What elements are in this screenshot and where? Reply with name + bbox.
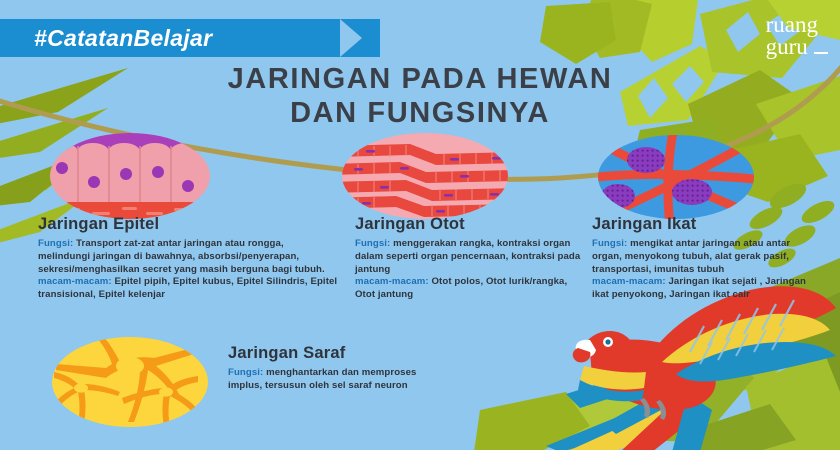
page-title-line-2: DAN FUNGSINYA bbox=[0, 96, 840, 130]
banner-notch bbox=[340, 19, 362, 57]
card-heading-epitel: Jaringan Epitel bbox=[38, 215, 338, 234]
nerve-tissue-illustration bbox=[50, 336, 210, 433]
card-heading-saraf: Jaringan Saraf bbox=[228, 344, 458, 363]
card-jaringan-ikat: Jaringan Ikat Fungsi: mengikat antar jar… bbox=[592, 215, 827, 302]
fungsi-label-otot: Fungsi: bbox=[355, 238, 390, 249]
ruangguru-logo: ruang guru bbox=[766, 14, 818, 58]
card-body-epitel: Fungsi: Transport zat-zat antar jaringan… bbox=[38, 238, 338, 302]
card-body-ikat: Fungsi: mengikat antar jaringan atau ant… bbox=[592, 238, 822, 302]
page-title-line-1: JARINGAN PADA HEWAN bbox=[228, 63, 613, 95]
fungsi-text-epitel: Transport zat-zat antar jaringan atau ro… bbox=[38, 238, 325, 275]
card-heading-ikat: Jaringan Ikat bbox=[592, 215, 827, 234]
macam-label-otot: macam-macam: bbox=[355, 276, 429, 287]
card-jaringan-otot: Jaringan Otot Fungsi: menggerakan rangka… bbox=[355, 215, 595, 302]
hashtag-banner: #CatatanBelajar bbox=[0, 19, 380, 57]
macam-label-epitel: macam-macam: bbox=[38, 276, 112, 287]
page-title: JARINGAN PADA HEWAN DAN FUNGSINYA bbox=[0, 62, 840, 130]
fungsi-label-saraf: Fungsi: bbox=[228, 367, 263, 378]
logo-line-1: ruang bbox=[766, 14, 818, 36]
muscle-tissue-illustration bbox=[340, 132, 510, 225]
card-jaringan-saraf: Jaringan Saraf Fungsi: menghantarkan dan… bbox=[228, 344, 458, 393]
fungsi-label-epitel: Fungsi: bbox=[38, 238, 73, 249]
card-jaringan-epitel: Jaringan Epitel Fungsi: Transport zat-za… bbox=[38, 215, 338, 302]
logo-line-2: guru bbox=[766, 36, 818, 58]
connective-tissue-illustration bbox=[596, 134, 756, 225]
card-body-saraf: Fungsi: menghantarkan dan memproses impl… bbox=[228, 367, 443, 393]
fungsi-label-ikat: Fungsi: bbox=[592, 238, 627, 249]
infographic-canvas: #CatatanBelajar ruang guru JARINGAN PADA… bbox=[0, 0, 840, 450]
epithelial-tissue-illustration bbox=[48, 132, 213, 225]
hashtag-banner-label: #CatatanBelajar bbox=[0, 25, 212, 52]
card-heading-otot: Jaringan Otot bbox=[355, 215, 595, 234]
macam-label-ikat: macam-macam: bbox=[592, 276, 666, 287]
card-body-otot: Fungsi: menggerakan rangka, kontraksi or… bbox=[355, 238, 585, 302]
